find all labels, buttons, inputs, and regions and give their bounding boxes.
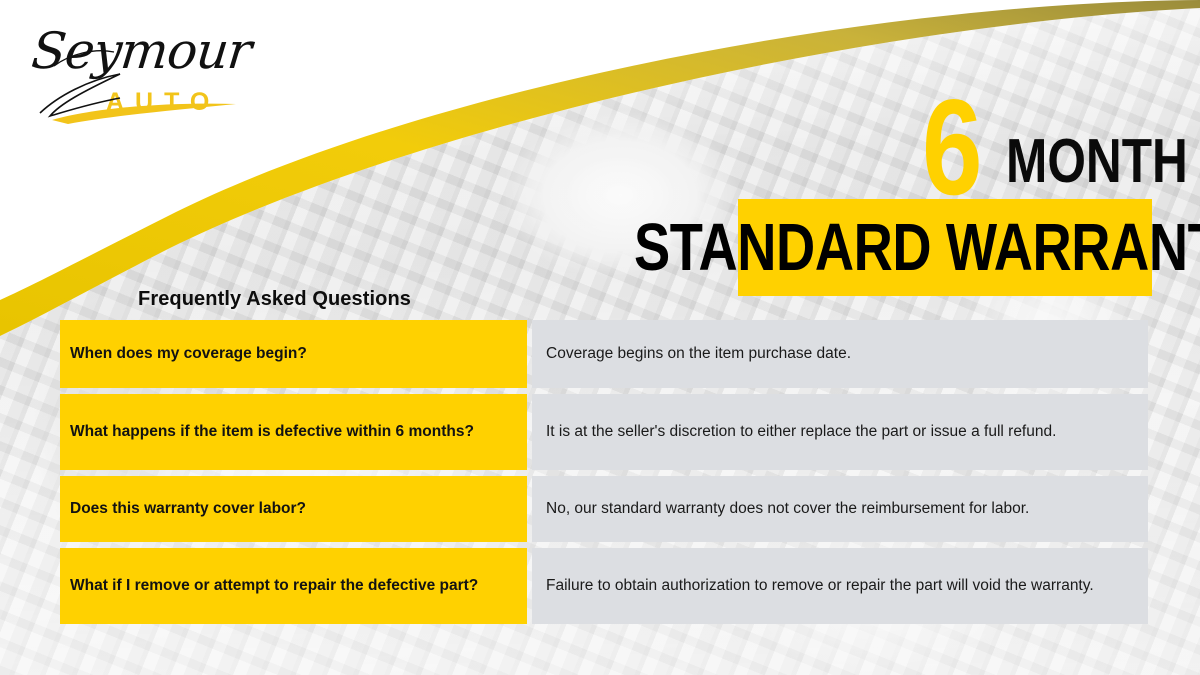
faq-answer-text: Coverage begins on the item purchase dat… xyxy=(546,343,1136,364)
duration-unit: MONTH xyxy=(1006,137,1188,188)
faq-answer-text: No, our standard warranty does not cover… xyxy=(546,498,1136,519)
duration-number: 6 xyxy=(922,94,981,200)
faq-question: What happens if the item is defective wi… xyxy=(60,394,527,470)
table-row: What if I remove or attempt to repair th… xyxy=(60,548,1148,624)
faq-answer: Failure to obtain authorization to remov… xyxy=(532,548,1148,624)
faq-heading: Frequently Asked Questions xyxy=(138,288,411,311)
faq-question: What if I remove or attempt to repair th… xyxy=(60,548,527,624)
banner-text: STANDARD WARRANTY xyxy=(634,214,1200,281)
seymour-auto-logo: Seymour AUTO xyxy=(24,18,274,130)
standard-warranty-banner: STANDARD WARRANTY xyxy=(738,199,1152,296)
faq-answer: It is at the seller's discretion to eith… xyxy=(532,394,1148,470)
faq-table: When does my coverage begin? Coverage be… xyxy=(60,320,1148,624)
table-row: Does this warranty cover labor? No, our … xyxy=(60,476,1148,542)
logo-swoosh-icon xyxy=(24,18,274,130)
faq-answer-text: It is at the seller's discretion to eith… xyxy=(546,421,1136,442)
faq-question: When does my coverage begin? xyxy=(60,320,527,388)
faq-question: Does this warranty cover labor? xyxy=(60,476,527,542)
faq-answer-text: Failure to obtain authorization to remov… xyxy=(546,575,1136,596)
table-row: When does my coverage begin? Coverage be… xyxy=(60,320,1148,388)
warranty-slide: Seymour AUTO 6 MONTH STANDARD WARRANTY F… xyxy=(0,0,1200,675)
faq-answer: No, our standard warranty does not cover… xyxy=(532,476,1148,542)
faq-answer: Coverage begins on the item purchase dat… xyxy=(532,320,1148,388)
warranty-duration-headline: 6 MONTH xyxy=(900,86,1162,192)
table-row: What happens if the item is defective wi… xyxy=(60,394,1148,470)
